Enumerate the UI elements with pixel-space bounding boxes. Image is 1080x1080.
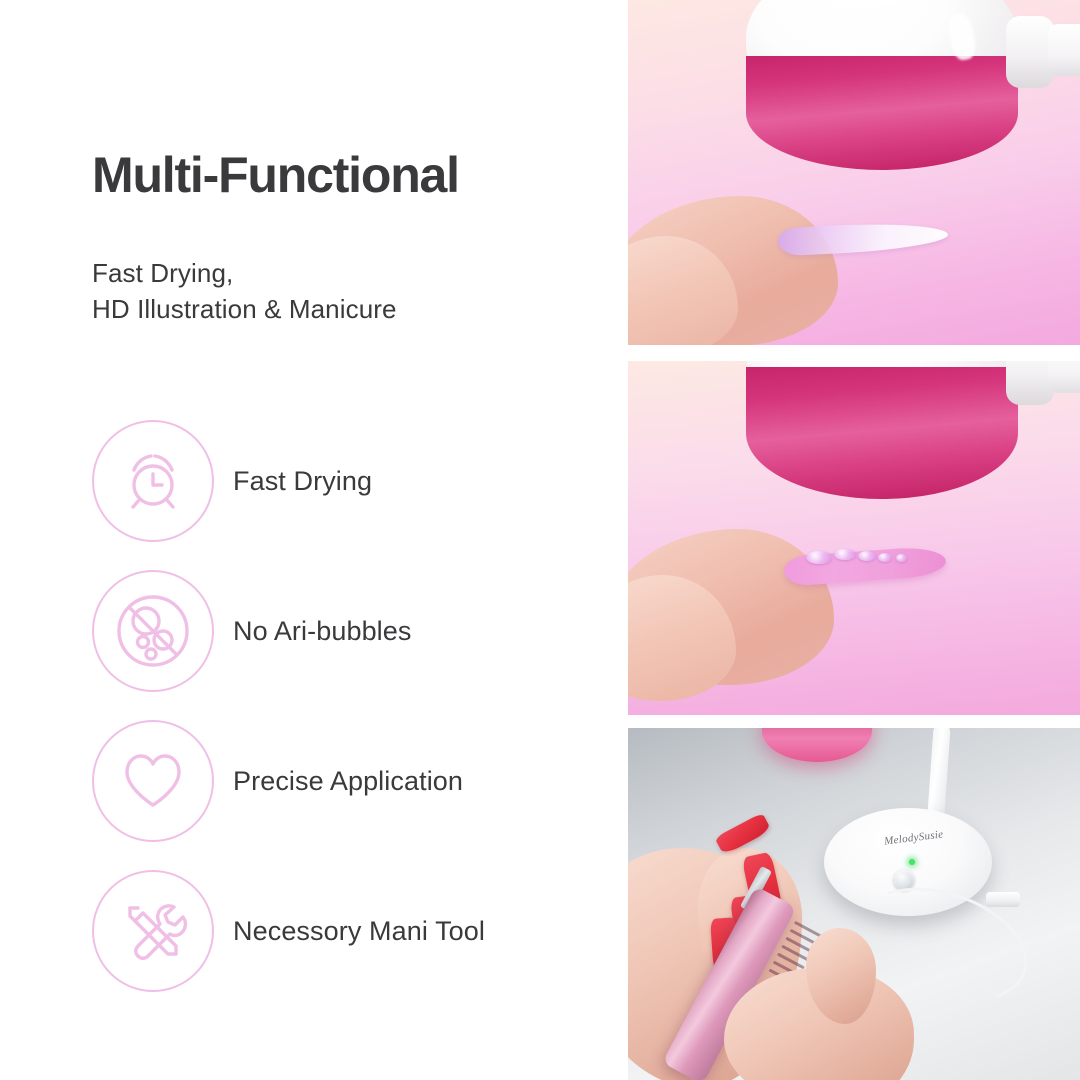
feature-label: Precise Application	[233, 766, 463, 797]
feature-item-precise-application: Precise Application	[92, 706, 612, 856]
usb-plug	[986, 892, 1020, 907]
power-led-indicator	[909, 859, 915, 865]
product-photo-nail-drill-scene: MelodySusie	[628, 728, 1080, 1080]
nail-art-detail	[858, 551, 876, 561]
product-photo-column: MelodySusie	[628, 0, 1080, 1080]
nail-art-detail	[878, 553, 892, 562]
product-photo-uv-lamp-clear-nail	[628, 0, 1080, 345]
heart-icon	[92, 720, 214, 842]
feature-item-mani-tool: Necessory Mani Tool	[92, 856, 612, 1006]
feature-label: Fast Drying	[233, 466, 372, 497]
feature-label: Necessory Mani Tool	[233, 916, 485, 947]
feature-item-no-air-bubbles: No Ari-bubbles	[92, 556, 612, 706]
product-photo-uv-lamp-hd-art-nail	[628, 361, 1080, 715]
feature-label: No Ari-bubbles	[233, 616, 412, 647]
no-bubbles-icon	[92, 570, 214, 692]
nail-art-detail	[896, 554, 907, 562]
tools-icon	[92, 870, 214, 992]
text-column: Multi-Functional Fast Drying, HD Illustr…	[0, 0, 628, 1080]
page-title: Multi-Functional	[92, 148, 459, 203]
nail-art-detail	[834, 549, 856, 560]
feature-item-fast-drying: Fast Drying	[92, 406, 612, 556]
alarm-clock-icon	[92, 420, 214, 542]
nail-art-detail	[806, 551, 832, 564]
product-feature-graphic: Multi-Functional Fast Drying, HD Illustr…	[0, 0, 1080, 1080]
subheading-line-1: Fast Drying,	[92, 256, 397, 292]
subheading: Fast Drying, HD Illustration & Manicure	[92, 256, 397, 328]
subheading-line-2: HD Illustration & Manicure	[92, 292, 397, 328]
feature-list: Fast Drying No Ari-bubbles	[92, 406, 612, 1006]
